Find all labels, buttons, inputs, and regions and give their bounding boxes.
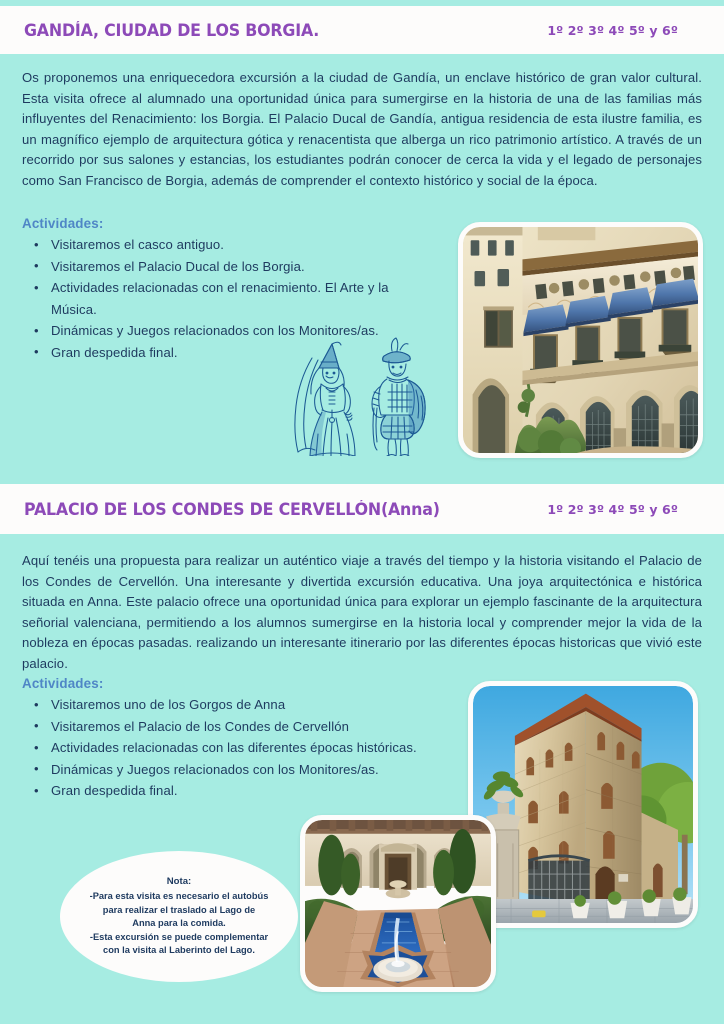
renaissance-figures-illustration [288,334,448,456]
nota-callout: Nota: -Para esta visita es necesario el … [60,851,298,982]
section-title-cervellon: PALACIO DE LOS CONDES DE CERVELLÓN(Anna) [24,500,440,519]
section-header-gandia: GANDÍA, CIUDAD DE LOS BORGIA. 1º 2º 3º 4… [0,6,724,54]
section-title-cervellon-main: PALACIO DE LOS CONDES DE CERVELLÓN [24,500,381,519]
renaissance-figures-drawing [288,334,448,456]
section-paragraph-gandia: Os proponemos una enriquecedora excursió… [22,68,702,192]
palacio-ducal-photo [458,222,703,458]
jardin-patio-image [305,820,491,987]
activities-label-cervellon: Actividades: [22,676,103,691]
list-item: Visitaremos el Palacio Ducal de los Borg… [34,256,414,278]
jardin-patio-photo [300,815,496,992]
list-item: Actividades relacionadas con el renacimi… [34,277,414,320]
torre-palacio-photo [468,681,698,928]
nota-line: Anna para la comida. [132,917,226,931]
section-grades-gandia: 1º 2º 3º 4º 5º y 6º [547,23,700,38]
list-item: Dinámicas y Juegos relacionados con los … [34,759,464,781]
section-grades-cervellon: 1º 2º 3º 4º 5º y 6º [547,502,700,517]
section-title-cervellon-paren: (Anna) [381,500,440,519]
nota-title: Nota: [167,875,192,889]
list-item: Gran despedida final. [34,780,464,802]
palacio-ducal-image [463,227,698,453]
activities-label-gandia: Actividades: [22,216,103,231]
document-page: GANDÍA, CIUDAD DE LOS BORGIA. 1º 2º 3º 4… [0,0,724,1024]
activities-list-cervellon: Visitaremos uno de los Gorgos de Anna Vi… [34,694,464,802]
nota-line: -Esta excursión se puede complementar [90,931,268,945]
section-paragraph-cervellon: Aquí tenéis una propuesta para realizar … [22,551,702,675]
nota-line: -Para esta visita es necesario el autobú… [90,890,269,904]
torre-palacio-image [473,686,693,923]
section-header-cervellon: PALACIO DE LOS CONDES DE CERVELLÓN(Anna)… [0,484,724,534]
nota-line: con la visita al Laberinto del Lago. [103,944,255,958]
nota-line: para realizar el traslado al Lago de [103,904,255,918]
section-title-gandia: GANDÍA, CIUDAD DE LOS BORGIA. [24,21,319,40]
list-item: Visitaremos el Palacio de los Condes de … [34,716,464,738]
list-item: Visitaremos el casco antiguo. [34,234,414,256]
list-item: Actividades relacionadas con las diferen… [34,737,464,759]
list-item: Visitaremos uno de los Gorgos de Anna [34,694,464,716]
